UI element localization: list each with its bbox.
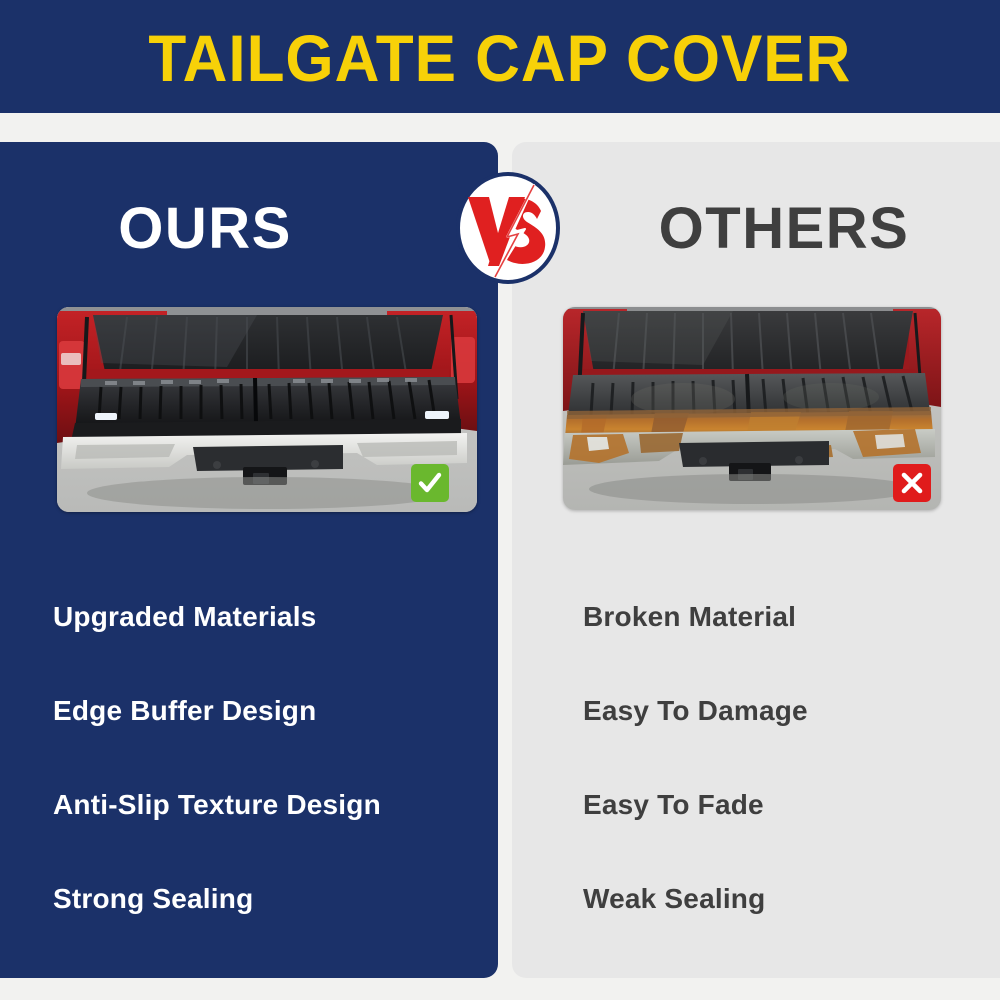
bottom-strip bbox=[0, 978, 1000, 1000]
page-title: TAILGATE CAP COVER bbox=[149, 25, 852, 91]
feature-item: Anti-Slip Texture Design bbox=[53, 758, 473, 852]
feature-item: Upgraded Materials bbox=[53, 570, 473, 664]
heading-ours: OURS bbox=[0, 192, 498, 266]
feature-item: Easy To Damage bbox=[583, 664, 983, 758]
feature-list-others: Broken Material Easy To Damage Easy To F… bbox=[583, 570, 983, 946]
feature-item: Strong Sealing bbox=[53, 852, 473, 946]
feature-item: Easy To Fade bbox=[583, 758, 983, 852]
comparison-infographic: TAILGATE CAP COVER OURS OTHERS bbox=[0, 0, 1000, 1000]
verdict-badge-ours bbox=[411, 464, 449, 502]
feature-item: Broken Material bbox=[583, 570, 983, 664]
header-banner: TAILGATE CAP COVER bbox=[0, 0, 1000, 113]
vs-lightning-icon bbox=[455, 171, 561, 285]
product-image-others bbox=[563, 307, 941, 510]
verdict-badge-others bbox=[893, 464, 931, 502]
feature-item: Weak Sealing bbox=[583, 852, 983, 946]
heading-others: OTHERS bbox=[512, 192, 1000, 266]
cross-icon bbox=[899, 470, 925, 496]
check-icon bbox=[417, 470, 443, 496]
feature-item: Edge Buffer Design bbox=[53, 664, 473, 758]
vs-badge bbox=[455, 171, 561, 285]
feature-list-ours: Upgraded Materials Edge Buffer Design An… bbox=[53, 570, 473, 946]
